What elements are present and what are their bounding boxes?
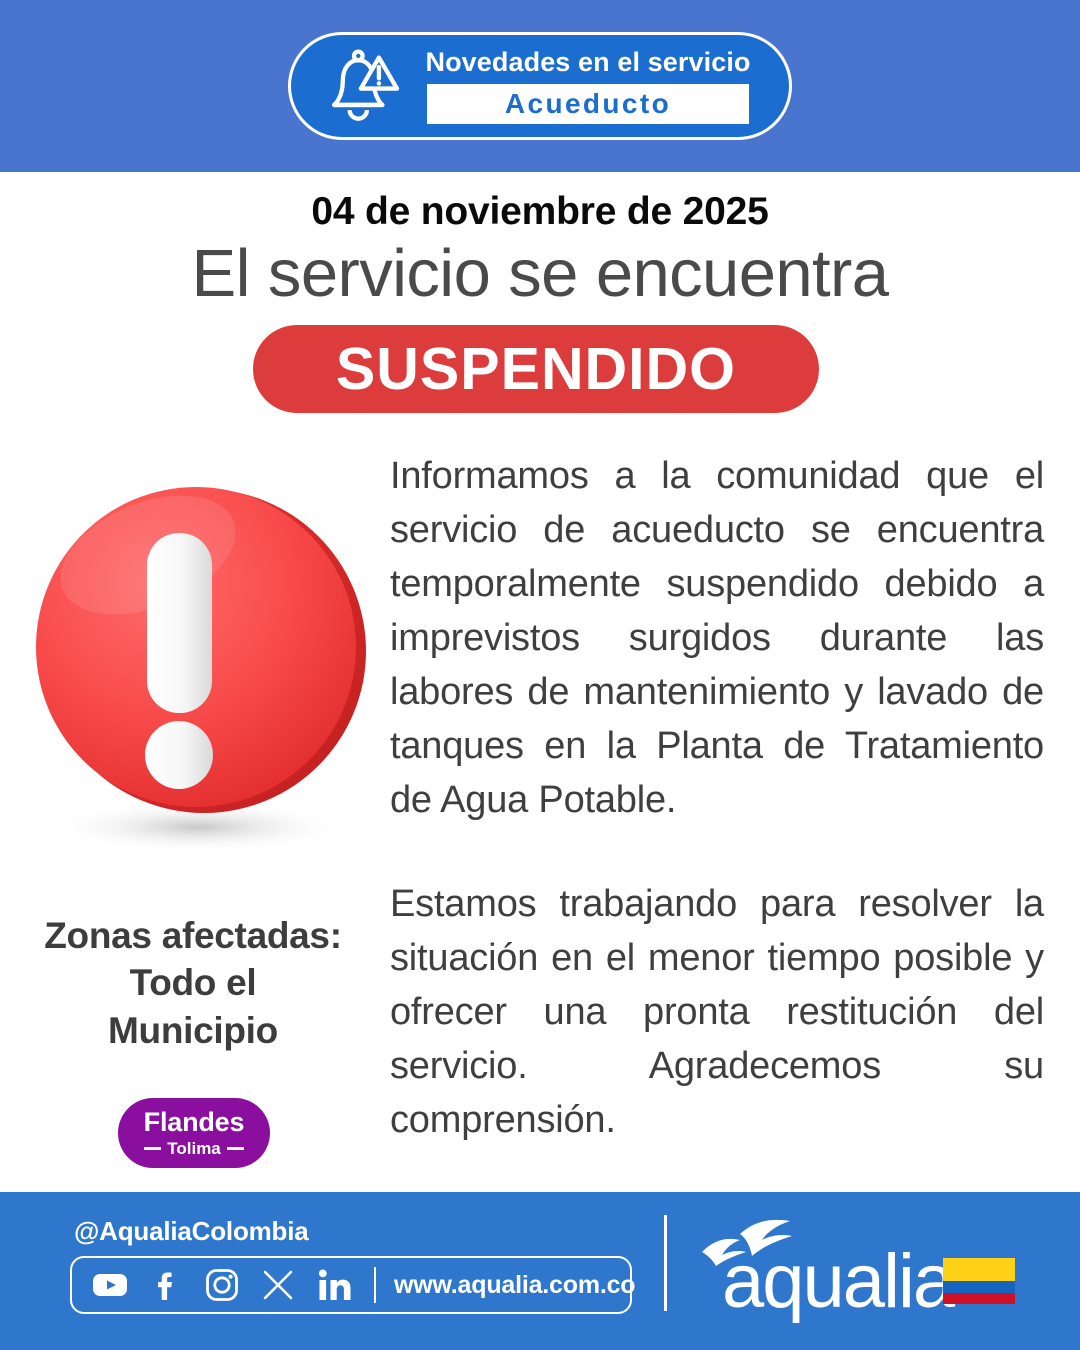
notice-headline: El servicio se encuentra: [0, 238, 1080, 310]
municipality-department-row: Tolima: [144, 1140, 244, 1157]
social-handle: @AqualiaColombia: [74, 1216, 309, 1247]
notice-date: 04 de noviembre de 2025: [0, 190, 1080, 234]
status-badge: SUSPENDIDO: [253, 325, 819, 413]
affected-zones-value-line2: Municipio: [8, 1007, 378, 1054]
status-badge-label: SUSPENDIDO: [336, 340, 736, 399]
poster: Novedades en el servicio Acueducto 04 de…: [0, 0, 1080, 1350]
website-url[interactable]: www.aqualia.com.co: [394, 1271, 635, 1300]
facebook-icon[interactable]: [148, 1267, 184, 1303]
affected-zones-title: Zonas afectadas:: [8, 912, 378, 959]
youtube-icon[interactable]: [92, 1267, 128, 1303]
colombia-flag-icon: [943, 1258, 1015, 1304]
linkedin-icon[interactable]: [316, 1267, 352, 1303]
social-url-divider: [374, 1267, 376, 1303]
header-band: Novedades en el servicio Acueducto: [0, 0, 1080, 172]
flag-stripe-blue: [943, 1281, 1015, 1293]
header-service-box: Acueducto: [427, 84, 749, 124]
dash-right-icon: [227, 1147, 244, 1150]
body-paragraph-1: Informamos a la comunidad que el servici…: [390, 450, 1044, 828]
municipality-badge: Flandes Tolima: [118, 1098, 270, 1168]
flag-stripe-yellow: [943, 1258, 1015, 1281]
instagram-icon[interactable]: [204, 1267, 240, 1303]
footer-vertical-divider: [664, 1215, 667, 1311]
municipality-name: Flandes: [144, 1109, 245, 1136]
header-subtitle: Novedades en el servicio: [425, 48, 750, 76]
aqualia-wordmark: aqualia: [722, 1244, 953, 1320]
header-service-label: Acueducto: [505, 88, 671, 120]
warning-exclamation-3d-icon: [8, 455, 383, 860]
dash-left-icon: [144, 1147, 161, 1150]
affected-zones-block: Zonas afectadas: Todo el Municipio: [8, 912, 378, 1054]
header-text-group: Novedades en el servicio Acueducto: [409, 48, 767, 123]
x-twitter-icon[interactable]: [260, 1267, 296, 1303]
header-badge: Novedades en el servicio Acueducto: [288, 32, 792, 140]
aqualia-brand: aqualia: [700, 1218, 1030, 1322]
flag-stripe-red: [943, 1293, 1015, 1305]
body-paragraph-2: Estamos trabajando para resolver la situ…: [390, 878, 1044, 1148]
municipality-department: Tolima: [167, 1140, 221, 1157]
bell-warning-icon: [317, 43, 403, 129]
affected-zones-value-line1: Todo el: [8, 959, 378, 1006]
social-links-box: www.aqualia.com.co: [70, 1256, 632, 1314]
